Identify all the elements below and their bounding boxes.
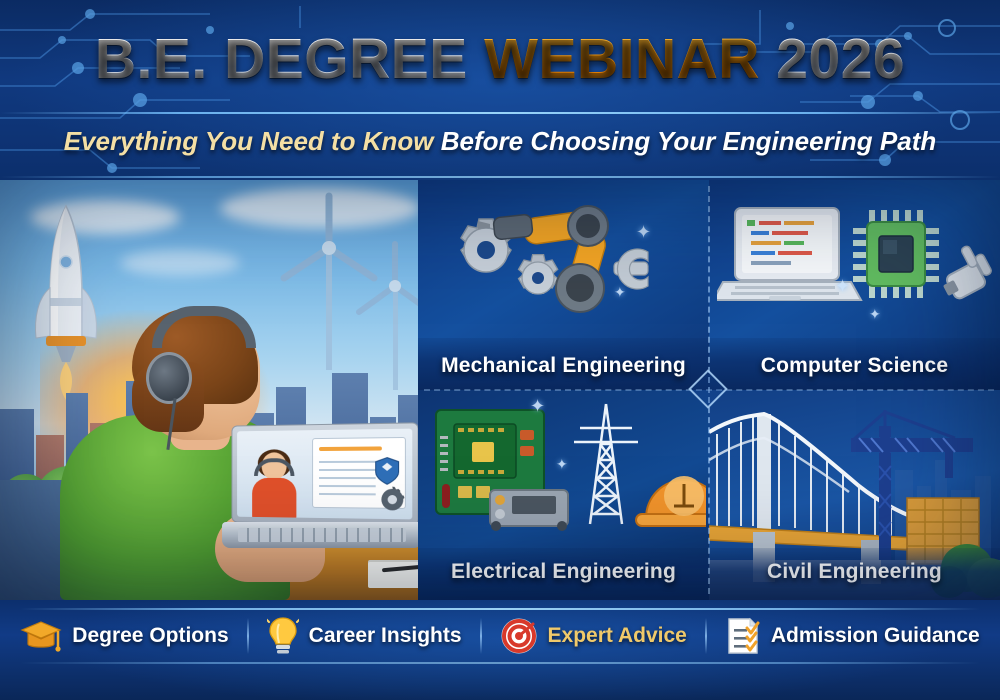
poster-footer: Degree Options Career Insights [0, 600, 1000, 700]
sparkle-icon: ✦ [636, 222, 651, 243]
gear-icon [377, 484, 408, 515]
footer-divider-top [20, 608, 980, 610]
webinar-poster: B.E. DEGREE WEBINAR 2026 Everything You … [0, 0, 1000, 700]
sparkle-icon: ✦ [530, 396, 545, 417]
quadrant-civil[interactable]: Civil Engineering [709, 390, 1000, 600]
subtitle-highlight: Everything You Need to Know [64, 126, 441, 156]
subtitle-emphasis: Engineering Path [722, 126, 936, 156]
footer-label-admission-guidance: Admission Guidance [771, 624, 980, 648]
student-illustration [0, 180, 430, 600]
footer-feature-list: Degree Options Career Insights [0, 612, 1000, 660]
footer-item-degree-options[interactable]: Degree Options [2, 619, 246, 653]
transmission-tower-icon [574, 404, 638, 524]
sparkle-icon: ✦ [869, 306, 881, 323]
page-subtitle: Everything You Need to Know Before Choos… [0, 126, 1000, 157]
presenter-body [252, 478, 296, 519]
presenter-figure [246, 452, 302, 518]
title-part-degree: B.E. DEGREE [95, 27, 484, 91]
plug-icon [943, 245, 993, 301]
page-title: B.E. DEGREE WEBINAR 2026 [0, 26, 1000, 92]
checklist-icon [725, 616, 761, 656]
quadrant-mechanical[interactable]: ✦ ✦ Mechanical Engineering [418, 180, 709, 390]
poster-main-scene: ✦ ✦ Mechanical Engineering [0, 180, 1000, 600]
quadrant-computer-science[interactable]: ✦ ✦ Computer Science [709, 180, 1000, 390]
cs-icons-group [717, 196, 995, 328]
laptop-lid [231, 422, 418, 525]
sparkle-icon: ✦ [835, 276, 850, 297]
power-supply-icon [490, 490, 568, 531]
shield-badge-icon [374, 457, 401, 486]
quadrant-label-computer-science: Computer Science [709, 354, 1000, 378]
sparkle-icon: ✦ [614, 284, 626, 301]
poster-header: B.E. DEGREE WEBINAR 2026 Everything You … [0, 0, 1000, 180]
quadrant-label-electrical: Electrical Engineering [418, 560, 709, 584]
title-part-webinar: WEBINAR [484, 27, 760, 91]
title-part-year: 2026 [760, 27, 905, 91]
footer-item-career-insights[interactable]: Career Insights [249, 616, 480, 656]
discipline-grid: ✦ ✦ Mechanical Engineering [418, 180, 1000, 600]
laptop-keyboard [238, 528, 406, 542]
quadrant-label-mechanical: Mechanical Engineering [418, 354, 709, 378]
mechanical-icons-group [428, 198, 700, 328]
wrench-icon [614, 249, 648, 289]
quadrant-label-civil: Civil Engineering [709, 560, 1000, 584]
target-icon [500, 617, 538, 655]
footer-divider-bottom [20, 662, 980, 664]
lightbulb-icon [267, 616, 299, 656]
laptop [222, 424, 422, 554]
microchip-icon [853, 210, 939, 298]
headphone-earcup [146, 352, 192, 404]
hard-hat-icon [636, 476, 706, 526]
footer-item-expert-advice[interactable]: Expert Advice [482, 617, 705, 655]
subtitle-rest: Before Choosing Your [441, 126, 723, 156]
gear-icon [519, 255, 558, 294]
footer-label-expert-advice: Expert Advice [548, 624, 687, 648]
footer-label-degree-options: Degree Options [72, 624, 228, 648]
graduation-cap-icon [20, 619, 62, 653]
sparkle-icon: ✦ [556, 456, 568, 473]
footer-item-admission-guidance[interactable]: Admission Guidance [707, 616, 998, 656]
header-divider-bottom [0, 176, 1000, 178]
quadrant-electrical[interactable]: ✦ ✦ Electrical Engineering [418, 390, 709, 600]
header-divider-top [0, 112, 1000, 114]
footer-label-career-insights: Career Insights [309, 624, 462, 648]
laptop-screen [237, 429, 412, 520]
